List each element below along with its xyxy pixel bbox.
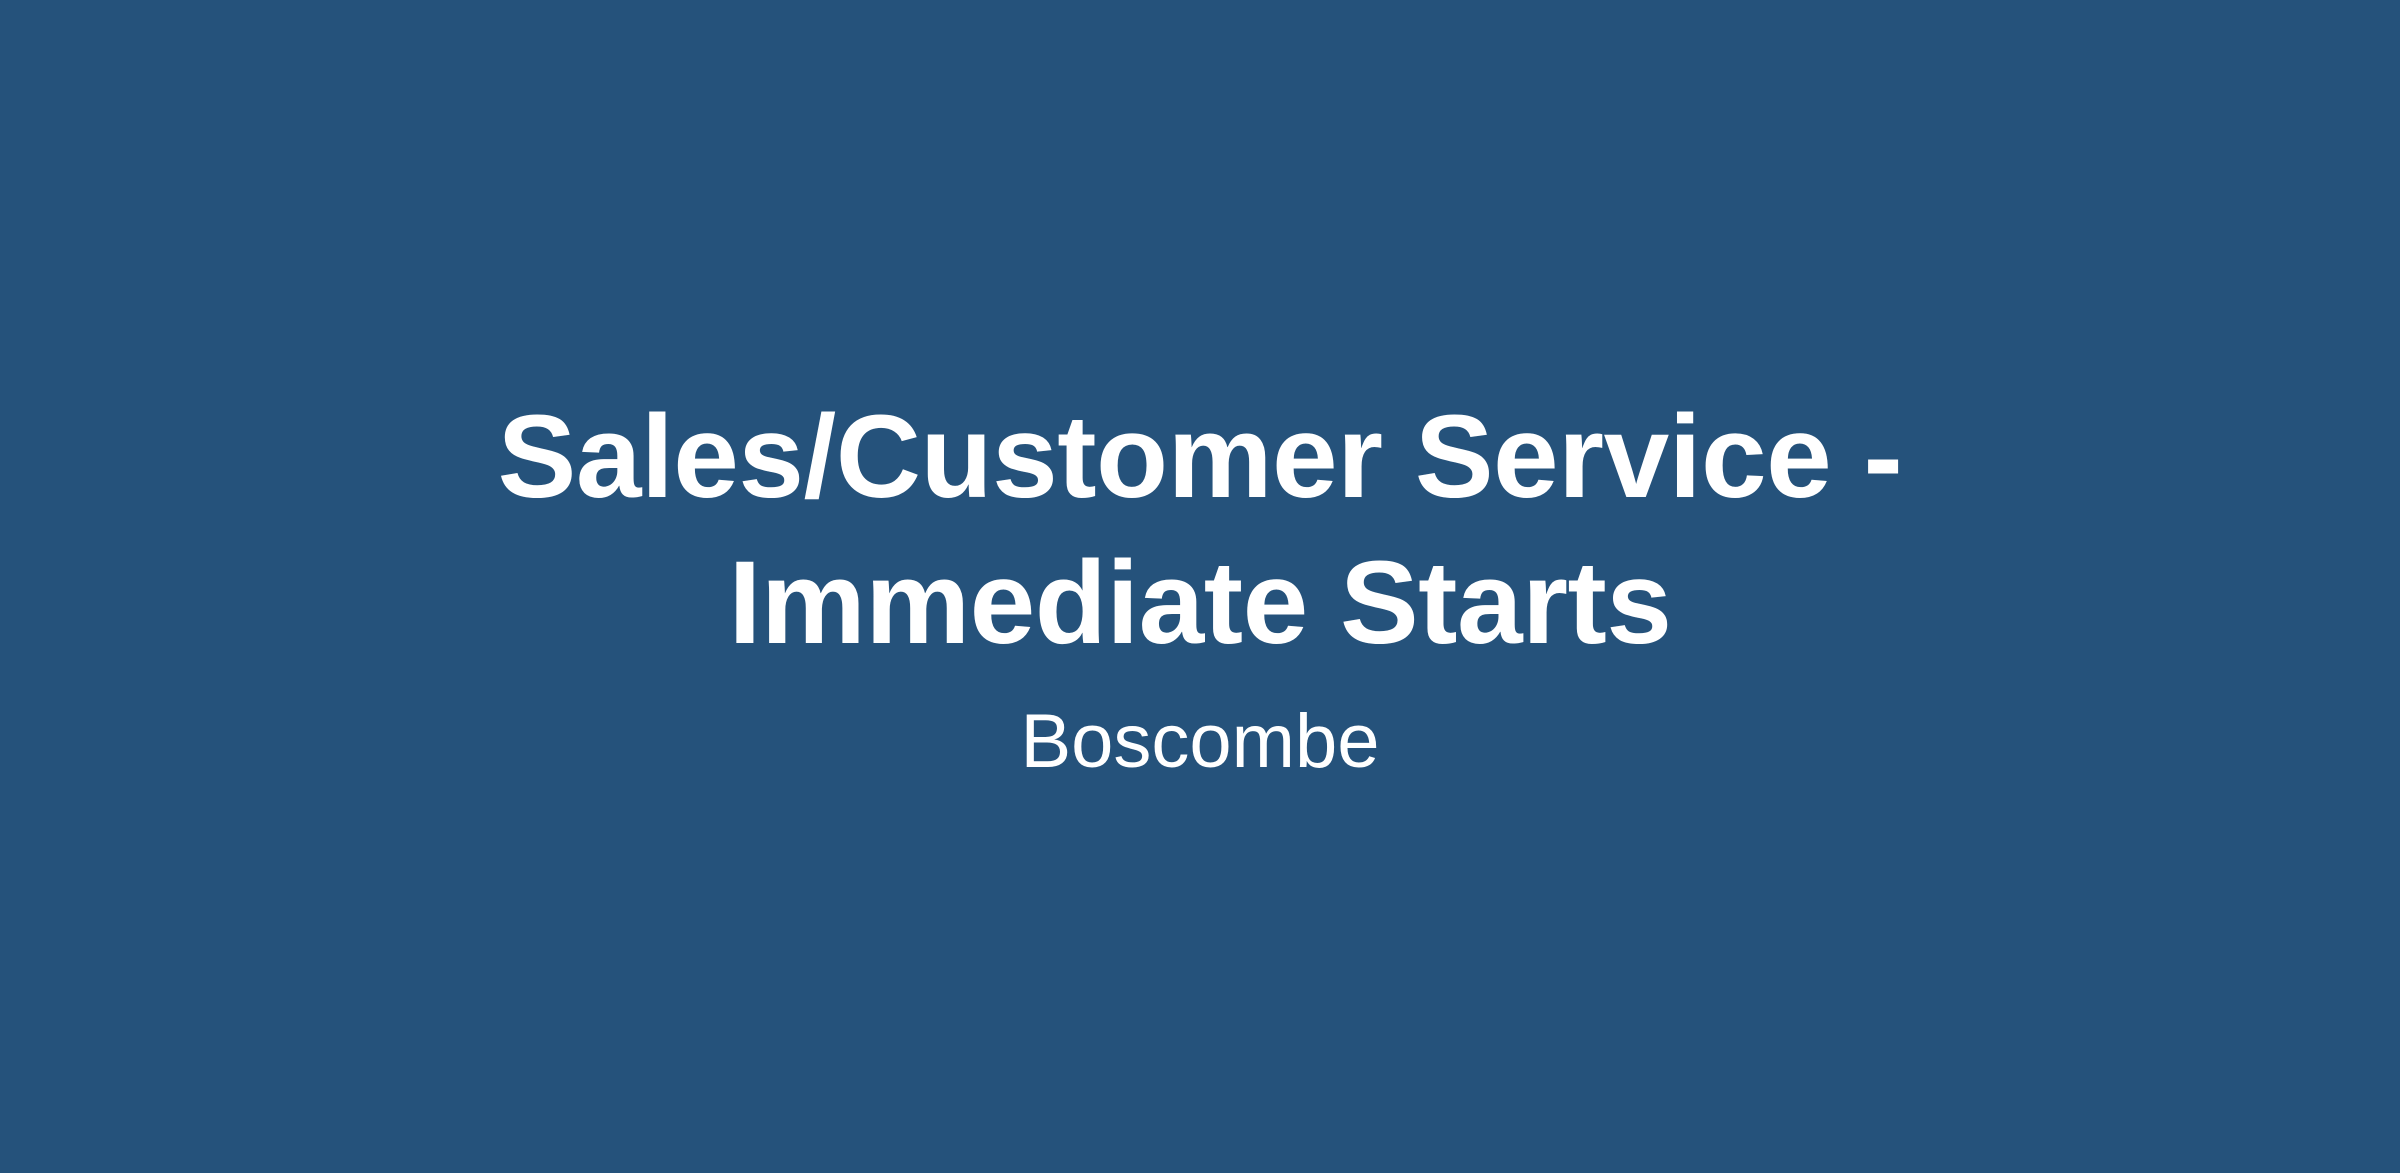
page-title: Sales/Customer Service - Immediate Start… <box>445 384 1955 676</box>
banner-content: Sales/Customer Service - Immediate Start… <box>440 384 1960 790</box>
job-banner: Sales/Customer Service - Immediate Start… <box>0 0 2400 1173</box>
location-subtitle: Boscombe <box>1020 676 1379 790</box>
